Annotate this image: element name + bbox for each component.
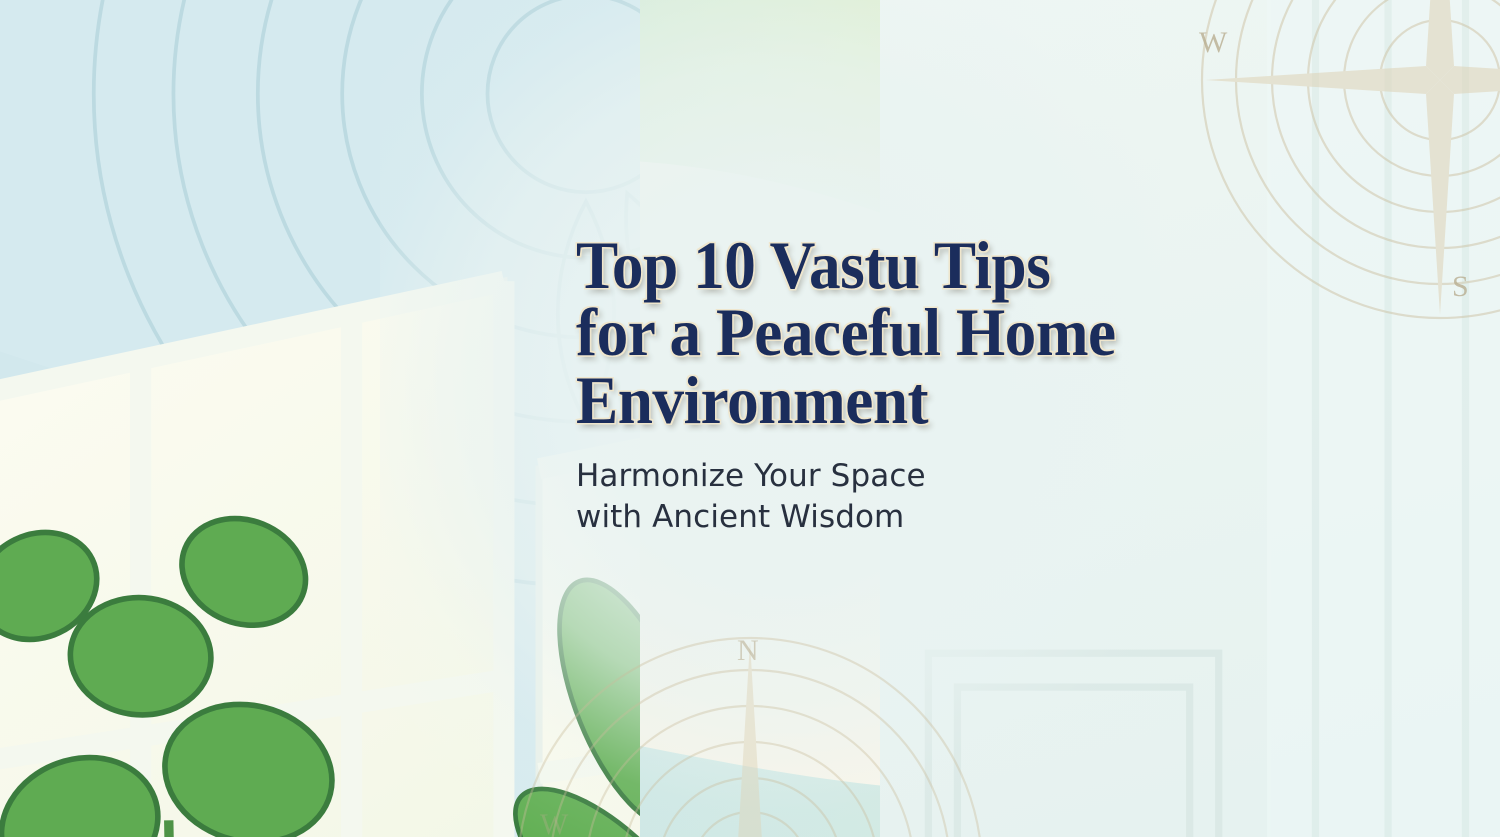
page-title: Top 10 Vastu Tips for a Peaceful Home En… (576, 232, 1227, 434)
headline-line-1: Top 10 Vastu Tips (576, 232, 1227, 299)
compass-label-north: N (737, 634, 759, 668)
subtitle-line-1: Harmonize Your Space (576, 456, 1276, 498)
headline-line-3: Environment (576, 367, 1227, 434)
subtitle-line-2: with Ancient Wisdom (576, 497, 1276, 539)
headline-line-2: for a Peaceful Home (576, 299, 1227, 366)
vastu-tips-banner: W S N W Top 10 Vastu Tips f (0, 0, 1500, 837)
compass-label-west-lower: W (540, 808, 568, 837)
page-subtitle: Harmonize Your Space with Ancient Wisdom (576, 456, 1276, 539)
headline-block: Top 10 Vastu Tips for a Peaceful Home En… (576, 232, 1276, 539)
